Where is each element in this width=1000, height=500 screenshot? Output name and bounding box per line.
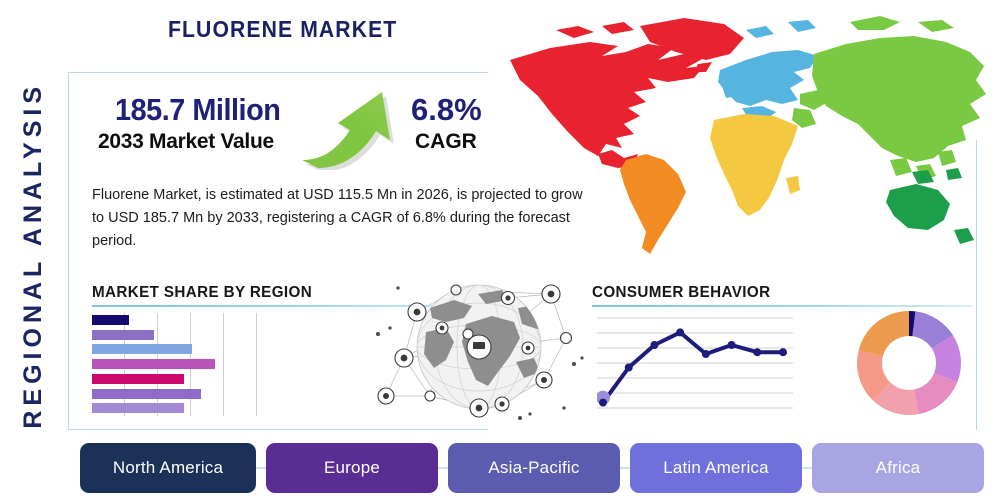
section-heading-consumer-behavior: CONSUMER BEHAVIOR (592, 284, 770, 302)
consumer-behavior-line-chart (597, 310, 793, 416)
bar-chart-bar (92, 403, 184, 413)
tab-connector (256, 467, 266, 469)
bar-chart-bar (92, 315, 129, 325)
tab-connector (802, 467, 812, 469)
page-title: FLUORENE MARKET (168, 16, 397, 43)
vertical-section-label: REGIONAL ANALYSIS (6, 70, 60, 440)
consumer-behavior-donut-chart (854, 308, 964, 418)
bar-chart-bar-fill (92, 315, 129, 325)
bar-chart-bar-fill (92, 403, 184, 413)
region-tab-label: Africa (876, 458, 921, 478)
region-tabs: North AmericaEuropeAsia-PacificLatin Ame… (80, 443, 980, 493)
section-heading-market-share: MARKET SHARE BY REGION (92, 284, 312, 302)
market-value-caption: 2033 Market Value (98, 130, 274, 154)
region-tab-label: Europe (324, 458, 380, 478)
line-chart-point (625, 364, 633, 372)
bar-chart-bar (92, 359, 215, 369)
bar-chart-bar-fill (92, 374, 184, 384)
line-chart-point (779, 348, 787, 356)
donut-segment (859, 311, 909, 356)
tab-connector (620, 467, 630, 469)
world-map-icon (498, 8, 1000, 270)
line-chart-point (728, 341, 736, 349)
bar-chart-bar (92, 330, 154, 340)
region-tab-label: Asia-Pacific (488, 458, 579, 478)
bar-chart-bar (92, 374, 184, 384)
region-tab-asia-pacific[interactable]: Asia-Pacific (448, 443, 620, 493)
vertical-section-label-text: REGIONAL ANALYSIS (19, 82, 48, 429)
infographic-root: REGIONAL ANALYSIS FLUORENE MARKET 185.7 … (0, 0, 1000, 500)
bar-chart-bar-fill (92, 330, 154, 340)
cagr-caption: CAGR (415, 130, 477, 154)
region-tab-label: North America (113, 458, 223, 478)
region-tab-latin-america[interactable]: Latin America (630, 443, 802, 493)
line-chart-point (676, 328, 684, 336)
region-tab-africa[interactable]: Africa (812, 443, 984, 493)
line-chart-point (753, 348, 761, 356)
bar-chart-bar (92, 389, 201, 399)
bar-chart-bar-fill (92, 359, 215, 369)
bar-chart-bar-fill (92, 344, 192, 354)
bar-chart-bar (92, 344, 192, 354)
region-tab-europe[interactable]: Europe (266, 443, 438, 493)
section-rule-consumer-behavior (592, 305, 972, 307)
hero-stats: 185.7 Million 2033 Market Value 6.8% CAG… (90, 92, 510, 172)
line-chart-point (702, 350, 710, 358)
region-tab-label: Latin America (663, 458, 769, 478)
line-chart-point (599, 399, 607, 407)
market-share-bar-chart (92, 313, 292, 416)
tab-connector (438, 467, 448, 469)
global-network-icon (368, 268, 590, 426)
cagr-number: 6.8% (411, 92, 482, 128)
market-value-number: 185.7 Million (115, 92, 280, 128)
line-chart-point (650, 341, 658, 349)
region-tab-north-america[interactable]: North America (80, 443, 256, 493)
bar-chart-bar-fill (92, 389, 201, 399)
growth-arrow-icon (298, 86, 408, 170)
